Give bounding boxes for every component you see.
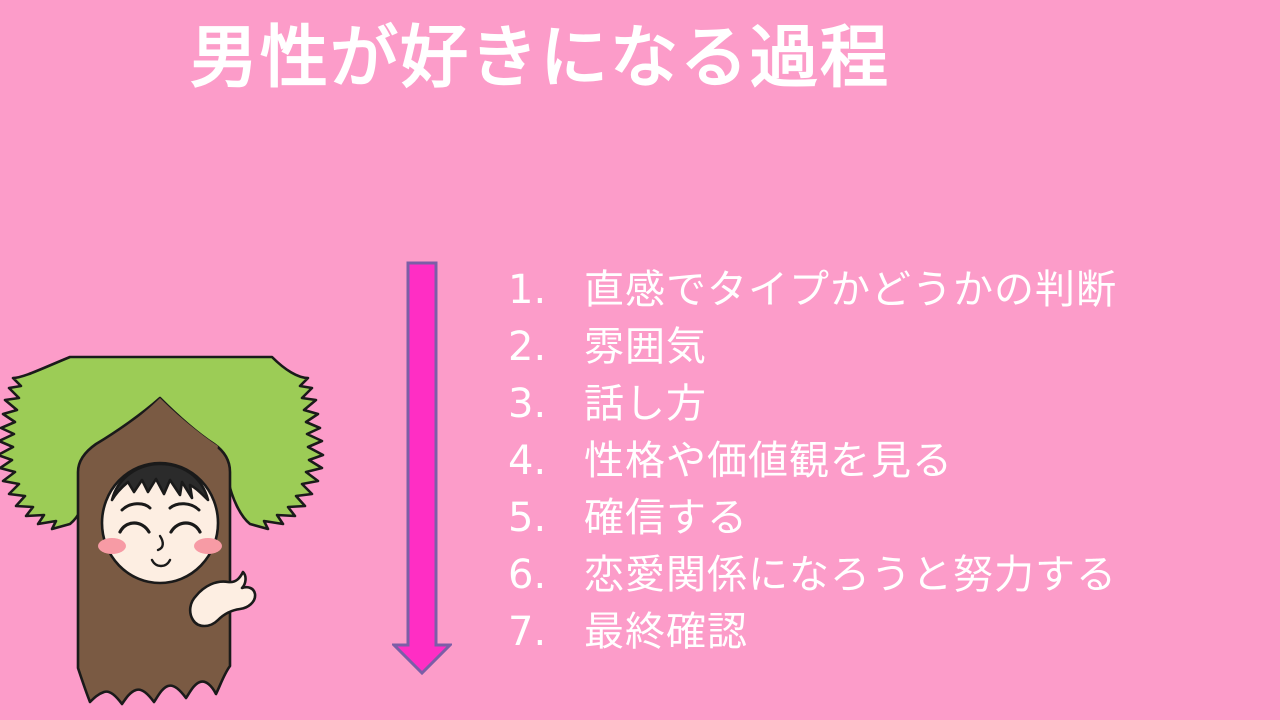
list-item-number: 7.: [508, 604, 584, 661]
list-item-label: 話し方: [584, 376, 707, 433]
list-item-number: 6.: [508, 547, 584, 604]
list-item: 2. 雰囲気: [508, 319, 1268, 376]
list-item-label: 雰囲気: [584, 319, 707, 376]
list-item-number: 1.: [508, 262, 584, 319]
page-title: 男性が好きになる過程: [190, 18, 1190, 101]
down-arrow-icon: [392, 261, 452, 675]
list-item-label: 最終確認: [584, 604, 748, 661]
list-item: 3. 話し方: [508, 376, 1268, 433]
list-item: 7. 最終確認: [508, 604, 1268, 661]
list-item-label: 恋愛関係になろうと努力する: [584, 547, 1117, 604]
tree-costume-character-illustration: [0, 348, 340, 720]
list-item: 6. 恋愛関係になろうと努力する: [508, 547, 1268, 604]
list-item: 4. 性格や価値観を見る: [508, 433, 1268, 490]
blush-right: [194, 538, 222, 554]
process-step-list: 1. 直感でタイプかどうかの判断 2. 雰囲気 3. 話し方 4. 性格や価値観…: [508, 262, 1268, 661]
list-item-number: 5.: [508, 490, 584, 547]
blush-left: [98, 538, 126, 554]
list-item: 1. 直感でタイプかどうかの判断: [508, 262, 1268, 319]
list-item-number: 2.: [508, 319, 584, 376]
list-item-label: 確信する: [584, 490, 748, 547]
list-item-number: 3.: [508, 376, 584, 433]
list-item-label: 性格や価値観を見る: [584, 433, 953, 490]
list-item: 5. 確信する: [508, 490, 1268, 547]
list-item-number: 4.: [508, 433, 584, 490]
slide-canvas: 男性が好きになる過程 1. 直感でタイプかどうかの判断 2. 雰囲気 3. 話し…: [0, 0, 1280, 720]
list-item-label: 直感でタイプかどうかの判断: [584, 262, 1117, 319]
